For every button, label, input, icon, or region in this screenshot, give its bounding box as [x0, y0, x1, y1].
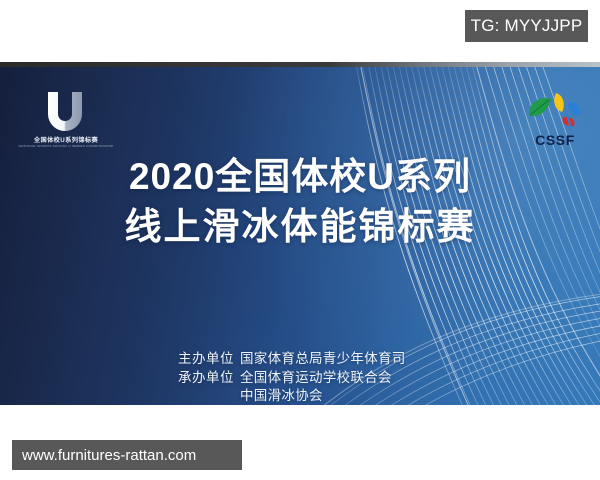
u-series-logo: 全国体校U系列锦标赛 NATIONAL SPORTS SCHOOL U SERI… — [18, 90, 114, 156]
cssf-leaves-icon — [525, 90, 587, 132]
banner-top-strip — [0, 62, 600, 67]
u-logo-english-text: NATIONAL SPORTS SCHOOL U SERIES CHAMPION… — [18, 144, 114, 148]
event-banner: 全国体校U系列锦标赛 NATIONAL SPORTS SCHOOL U SERI… — [0, 62, 600, 405]
organizer-value: 国家体育总局青少年体育司 — [240, 350, 406, 369]
organizer-row-host: 主办单位 国家体育总局青少年体育司 — [178, 350, 461, 369]
organizer-value: 全国体育运动学校联合会 — [240, 369, 392, 388]
cssf-logo-text: CSSF — [519, 132, 591, 148]
tg-watermark-badge: TG: MYYJJPP — [465, 10, 588, 42]
organizer-row-undertaker: 承办单位 全国体育运动学校联合会 中国滑冰协会 — [178, 369, 461, 406]
organizer-label-undertaker: 承办单位 — [178, 369, 240, 388]
title-line-1: 2020全国体校U系列 — [0, 152, 600, 202]
cssf-logo: CSSF — [519, 90, 591, 156]
u-logo-chinese-text: 全国体校U系列锦标赛 — [18, 135, 114, 144]
site-watermark-badge: www.furnitures-rattan.com — [12, 440, 242, 470]
banner-title: 2020全国体校U系列 线上滑冰体能锦标赛 — [0, 152, 600, 252]
organizer-values-host: 国家体育总局青少年体育司 — [240, 350, 406, 369]
letter-u-icon — [40, 90, 90, 132]
organizer-list: 主办单位 国家体育总局青少年体育司 承办单位 全国体育运动学校联合会 中国滑冰协… — [178, 350, 461, 405]
organizer-value: 中国滑冰协会 — [240, 387, 392, 405]
organizer-values-undertaker: 全国体育运动学校联合会 中国滑冰协会 — [240, 369, 392, 406]
page-root: TG: MYYJJPP — [0, 0, 600, 480]
organizer-label-host: 主办单位 — [178, 350, 240, 369]
title-line-2: 线上滑冰体能锦标赛 — [0, 202, 600, 252]
